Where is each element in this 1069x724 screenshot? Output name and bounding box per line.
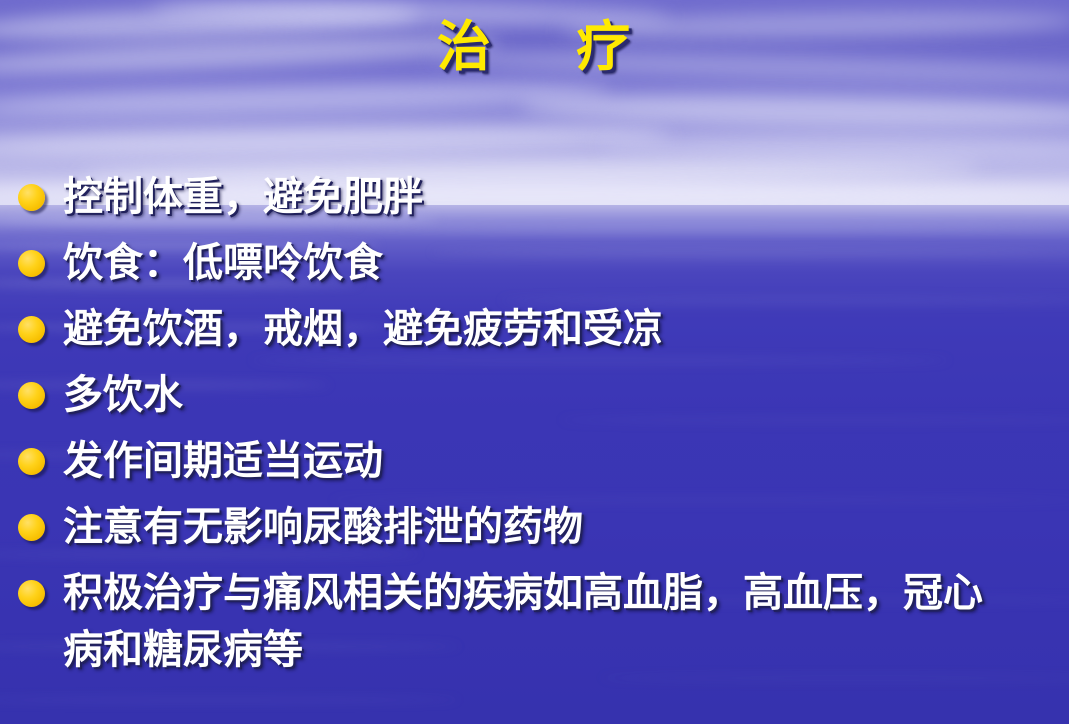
bullet-list: 控制体重，避免肥胖 饮食：低嘌呤饮食 避免饮酒，戒烟，避免疲劳和受凉 多饮水 发… (14, 168, 1054, 687)
slide-title: 治 疗 (0, 18, 1069, 75)
presentation-slide: 治 疗 控制体重，避免肥胖 饮食：低嘌呤饮食 避免饮酒，戒烟，避免疲劳和受凉 多… (0, 0, 1069, 724)
bullet-dot-icon (18, 316, 45, 343)
list-item: 控制体重，避免肥胖 (14, 168, 1054, 225)
list-item-label: 发作间期适当运动 (63, 437, 383, 484)
list-item: 注意有无影响尿酸排泄的药物 (14, 498, 1054, 555)
list-item-label: 积极治疗与痛风相关的疾病如高血脂，高血压，冠心病和糖尿病等 (63, 569, 983, 673)
list-item-label: 注意有无影响尿酸排泄的药物 (63, 503, 583, 550)
list-item-label: 避免饮酒，戒烟，避免疲劳和受凉 (63, 305, 663, 352)
list-item-label: 饮食：低嘌呤饮食 (63, 239, 383, 286)
list-item-label: 控制体重，避免肥胖 (63, 173, 423, 220)
bullet-dot-icon (18, 382, 45, 409)
list-item: 积极治疗与痛风相关的疾病如高血脂，高血压，冠心病和糖尿病等 (14, 564, 1054, 678)
list-item: 避免饮酒，戒烟，避免疲劳和受凉 (14, 300, 1054, 357)
bullet-dot-icon (18, 514, 45, 541)
bullet-dot-icon (18, 250, 45, 277)
bullet-dot-icon (18, 184, 45, 211)
list-item: 饮食：低嘌呤饮食 (14, 234, 1054, 291)
slide-content: 治 疗 控制体重，避免肥胖 饮食：低嘌呤饮食 避免饮酒，戒烟，避免疲劳和受凉 多… (0, 0, 1069, 724)
bullet-dot-icon (18, 448, 45, 475)
bullet-dot-icon (18, 580, 45, 607)
list-item-label: 多饮水 (63, 371, 183, 418)
list-item: 多饮水 (14, 366, 1054, 423)
list-item: 发作间期适当运动 (14, 432, 1054, 489)
